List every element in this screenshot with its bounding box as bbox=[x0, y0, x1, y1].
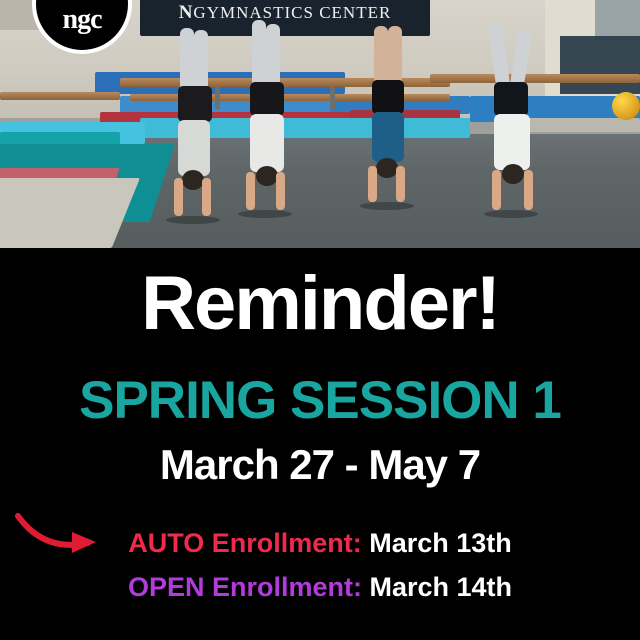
open-enrollment-label: OPEN Enrollment: bbox=[128, 572, 370, 602]
gym-banner-text: NGYMNASTICS CENTER bbox=[140, 2, 430, 24]
auto-enrollment-date: March 13th bbox=[369, 528, 512, 558]
auto-enrollment-label: AUTO Enrollment: bbox=[128, 528, 369, 558]
gym-logo-text: ngc bbox=[36, 4, 128, 36]
gym-ball bbox=[612, 92, 640, 120]
date-range: March 27 - May 7 bbox=[0, 444, 640, 486]
session-title: SPRING SESSION 1 bbox=[0, 374, 640, 427]
headline: Reminder! bbox=[0, 266, 640, 342]
wall-upper-right-block bbox=[595, 0, 640, 40]
gym-photo: NGYMNASTICS CENTER ngc bbox=[0, 0, 640, 248]
wall-dark-right-block bbox=[560, 36, 640, 94]
beam-leg-1 bbox=[215, 87, 220, 109]
gym-banner-label: GYMNASTICS CENTER bbox=[193, 3, 391, 22]
poster-text-block: Reminder! SPRING SESSION 1 March 27 - Ma… bbox=[0, 248, 640, 640]
balance-beam-right bbox=[430, 74, 640, 83]
promo-poster: NGYMNASTICS CENTER ngc bbox=[0, 0, 640, 640]
beam-leg-2 bbox=[330, 87, 335, 109]
auto-enrollment-row: AUTO Enrollment: March 13th bbox=[0, 530, 640, 557]
gym-banner-prefix: N bbox=[179, 2, 194, 23]
mat-grey-right bbox=[520, 118, 640, 132]
open-enrollment-date: March 14th bbox=[369, 572, 512, 602]
open-enrollment-row: OPEN Enrollment: March 14th bbox=[0, 574, 640, 601]
balance-beam-left bbox=[0, 92, 120, 100]
